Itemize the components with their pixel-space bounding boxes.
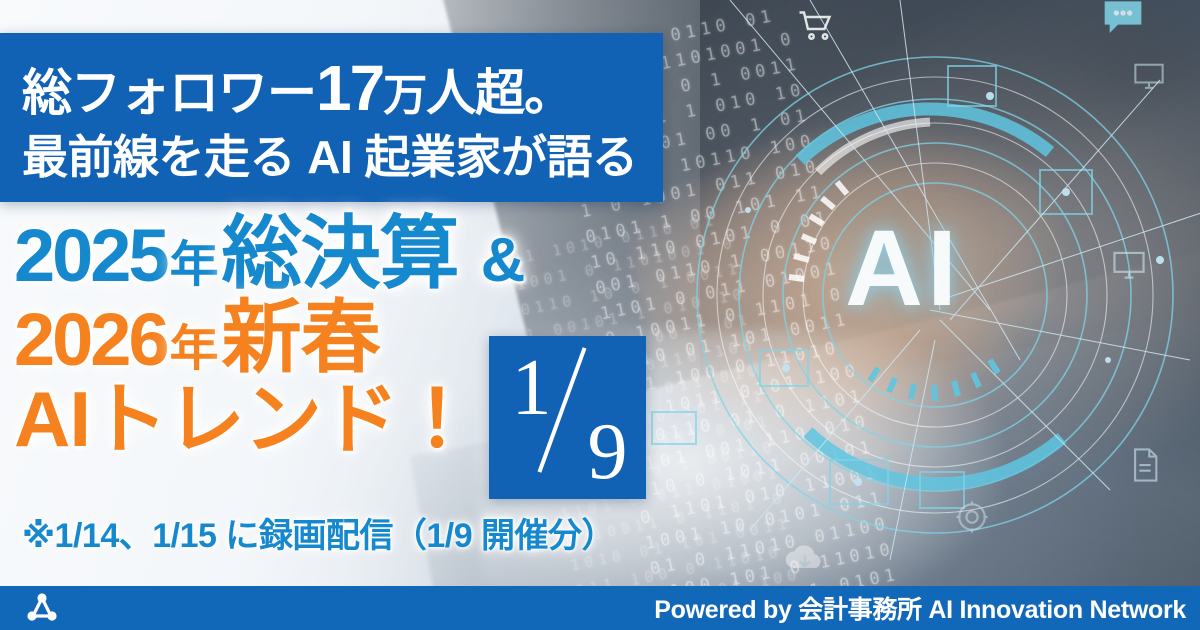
shopping-cart-icon — [795, 8, 837, 49]
gear-icon — [955, 500, 989, 539]
date-fraction: 1 9 — [508, 358, 628, 478]
document-icon — [1130, 448, 1160, 487]
chat-bubble-icon — [1100, 0, 1146, 43]
title-row-1: 2025 年 総決算 & — [14, 214, 694, 294]
headline-line-1: 総フォロワー17万人超。 — [22, 56, 663, 120]
monitor-icon-secondary — [1110, 250, 1148, 287]
date-day: 9 — [588, 412, 628, 492]
date-month: 1 — [512, 348, 552, 428]
headline-prefix: 総フォロワー — [22, 65, 316, 121]
date-badge: 1 9 — [489, 336, 646, 499]
title-word-shinshun: 新春 — [222, 298, 380, 378]
title-year-suffix-2025: 年 — [167, 241, 222, 290]
title-word-ai-trend: AIトレンド！ — [14, 380, 475, 458]
headline-line-2: 最前線を走る AI 起業家が語る — [22, 134, 663, 180]
network-node-logo — [24, 593, 60, 623]
cloud-download-icon — [780, 540, 830, 581]
footer-bar: Powered by 会計事務所 AI Innovation Network — [0, 586, 1200, 630]
headline-number: 17 — [316, 52, 383, 124]
headline-unit: 万 — [383, 71, 426, 120]
title-year-suffix-2026: 年 — [167, 325, 222, 374]
ai-hud-label: AI — [845, 205, 961, 330]
monitor-icon — [1132, 62, 1166, 97]
promotional-banner: 01 1010 0110 01 1001 0 1101001 0 0110 10… — [0, 0, 1200, 630]
title-word-soukessan: 総決算 — [222, 214, 459, 294]
title-year-2025: 2025 — [14, 219, 167, 293]
headline-suffix: 人超。 — [426, 65, 573, 121]
title-ampersand: & — [459, 230, 526, 292]
broadcast-note: ※1/14、1/15 に録画配信（1/9 開催分） — [22, 508, 615, 557]
title-year-2026: 2026 — [14, 303, 167, 377]
powered-by-text: Powered by 会計事務所 AI Innovation Network — [654, 590, 1186, 626]
headline-banner: 総フォロワー17万人超。 最前線を走る AI 起業家が語る — [0, 33, 663, 202]
